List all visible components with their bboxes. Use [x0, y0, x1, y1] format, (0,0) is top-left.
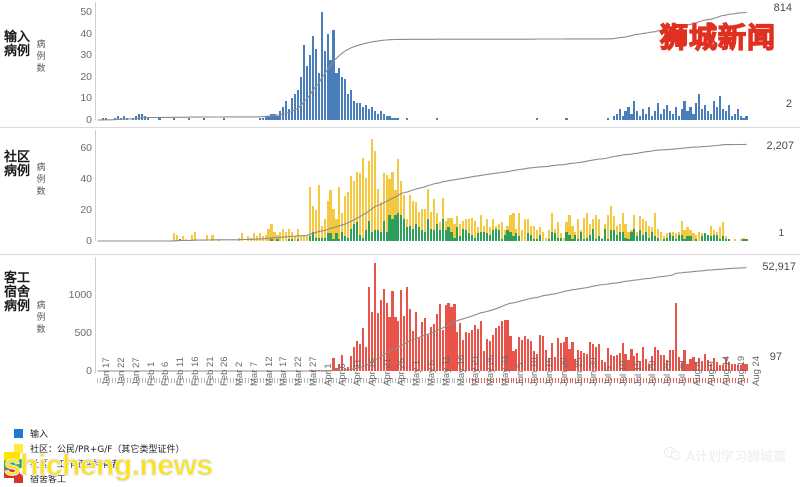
y-ticks-imported: 01020304050: [48, 0, 92, 127]
y-tick-label: 0: [52, 235, 92, 247]
x-tick-label: Feb 16: [190, 356, 201, 386]
y-tick-label: 1000: [52, 289, 92, 301]
x-tick-label: Aug 19: [736, 356, 747, 386]
plot-area-dormitory: [96, 261, 748, 371]
x-tick-label: May 26: [485, 355, 496, 386]
panel-imported-ylabel: 病例数: [34, 38, 48, 74]
x-tick-label: Apr 21: [382, 358, 393, 386]
x-tick-label: Jan 27: [131, 357, 142, 386]
x-tick-label: Jan 17: [101, 357, 112, 386]
x-tick-label: Aug 9: [706, 361, 717, 386]
x-tick-label: Apr 6: [337, 363, 348, 386]
dormitory-last-value-label: 97: [770, 351, 782, 363]
x-tick-label: Jul 5: [603, 366, 614, 386]
x-tick-label: Jul 10: [618, 361, 629, 386]
x-tick-label: Apr 11: [352, 359, 363, 386]
legend-swatch: [14, 429, 23, 438]
x-tick-label: Jun 15: [544, 357, 555, 386]
x-tick-label: Aug 24: [751, 356, 762, 386]
cumulative-line: [96, 261, 748, 371]
x-tick-mark: [407, 378, 408, 383]
panel-community-ylabel: 病例数: [34, 161, 48, 197]
x-tick-mark: [481, 378, 482, 383]
x-tick-label: Mar 22: [293, 356, 304, 386]
x-tick-label: Mar 12: [264, 356, 275, 386]
x-tick-label: Mar 17: [278, 356, 289, 386]
cumulative-line: [96, 136, 748, 241]
y-axis-line-imported: [95, 2, 96, 120]
watermark-top-right: 狮城新闻: [660, 16, 776, 56]
cumulative-line: [96, 8, 748, 120]
x-tick-label: May 31: [500, 355, 511, 386]
panel-dormitory-ylabel: 病例数: [34, 299, 48, 335]
x-tick-label: May 6: [426, 360, 437, 386]
x-tick-label: Feb 11: [175, 357, 186, 386]
y-tick-label: 500: [52, 327, 92, 339]
x-tick-label: Jul 15: [633, 361, 644, 386]
x-tick-label: Jul 30: [677, 361, 688, 386]
x-tick-mark: [230, 378, 231, 383]
x-tick-mark: [245, 378, 246, 383]
x-tick-mark: [171, 378, 172, 383]
y-ticks-community: 0204060: [48, 128, 92, 254]
community-cumulative-label: 2,207: [766, 140, 794, 152]
x-tick-label: Apr 1: [323, 363, 334, 386]
x-tick-label: Apr 26: [396, 358, 407, 386]
x-tick-label: Aug 4: [692, 361, 703, 386]
x-tick-mark: [717, 378, 718, 383]
x-tick-label: Apr 16: [367, 358, 378, 386]
x-tick-mark: [599, 378, 600, 383]
x-tick-mark: [112, 378, 113, 383]
plot-area-imported: [96, 8, 748, 120]
dormitory-cumulative-label: 52,917: [762, 261, 796, 273]
x-tick-mark: [127, 378, 128, 383]
x-tick-mark: [348, 378, 349, 383]
y-tick-label: 60: [52, 142, 92, 154]
x-tick-label: Jul 20: [647, 361, 658, 386]
x-tick-mark: [289, 378, 290, 383]
x-tick-label: Jun 20: [559, 357, 570, 386]
y-tick-label: 0: [52, 114, 92, 126]
x-tick-label: Jul 25: [662, 361, 673, 386]
y-tick-label: 10: [52, 92, 92, 104]
panel-dormitory-title: 客工宿舍病例: [2, 271, 32, 313]
panel-imported-title: 输入病例: [2, 30, 32, 58]
x-tick-label: Feb 21: [205, 356, 216, 386]
plot-area-community: [96, 136, 748, 241]
x-tick-label: May 21: [470, 355, 481, 386]
x-tick-mark: [363, 378, 364, 383]
legend-label: 输入: [30, 427, 48, 440]
x-tick-mark: [422, 378, 423, 383]
x-tick-label: Jan 22: [116, 357, 127, 386]
x-tick-label: Jun 30: [588, 357, 599, 386]
x-tick-mark: [304, 378, 305, 383]
x-tick-label: Jun 25: [574, 357, 585, 386]
x-tick-label: May 1: [411, 360, 422, 386]
x-tick-mark: [97, 378, 98, 383]
panel-community-cases: 社区病例 病例数 0204060 2,207 1: [0, 128, 800, 254]
x-tick-label: Feb 6: [160, 362, 171, 386]
watermark-bottom-right: A计划学习狮城篇: [664, 446, 786, 465]
wechat-icon: [664, 447, 681, 465]
x-tick-mark: [186, 378, 187, 383]
community-last-value-label: 1: [778, 228, 784, 239]
y-axis-line-dormitory: [95, 257, 96, 373]
x-tick-label: Jun 10: [529, 357, 540, 386]
y-tick-label: 20: [52, 71, 92, 83]
x-tick-label: Mar 2: [234, 362, 245, 386]
x-tick-label: May 11: [441, 356, 452, 386]
x-tick-label: May 16: [456, 355, 467, 386]
y-tick-label: 30: [52, 49, 92, 61]
x-tick-mark: [658, 378, 659, 383]
y-ticks-dormitory: 05001000: [48, 255, 92, 383]
x-tick-mark: [540, 378, 541, 383]
y-tick-label: 50: [52, 6, 92, 18]
x-tick-label: Aug 14: [721, 356, 732, 386]
x-tick-label: Feb 1: [146, 362, 157, 386]
imported-cumulative-label: 814: [774, 2, 792, 14]
y-tick-label: 40: [52, 173, 92, 185]
x-tick-label: Jun 5: [515, 363, 526, 386]
watermark-bottom-left: shicheng.news: [4, 449, 213, 483]
panel-community-title: 社区病例: [2, 150, 32, 178]
y-axis-line-community: [95, 130, 96, 241]
x-tick-label: Mar 7: [249, 362, 260, 386]
x-tick-label: Mar 27: [308, 356, 319, 386]
y-tick-label: 40: [52, 28, 92, 40]
watermark-bottom-right-text: A计划学习狮城篇: [686, 446, 786, 465]
x-tick-label: Feb 26: [219, 356, 230, 386]
y-tick-label: 20: [52, 204, 92, 216]
imported-last-value-label: 2: [786, 98, 792, 110]
y-tick-label: 0: [52, 365, 92, 377]
